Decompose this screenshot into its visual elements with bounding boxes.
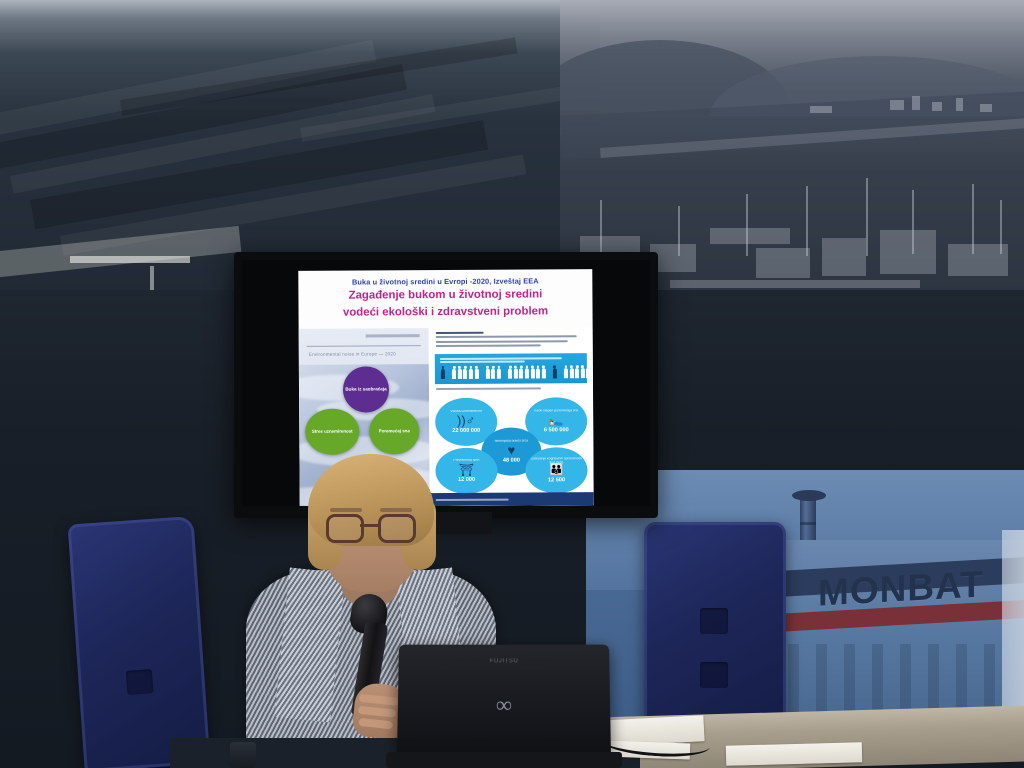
sleep-disturbance-icon: 🛌	[549, 414, 564, 426]
heart-pulse-icon: ♥	[507, 444, 515, 457]
glasses-lens-right	[378, 514, 416, 543]
paper-sheet-center[interactable]	[726, 742, 862, 766]
person-icon	[575, 368, 579, 378]
impact-circle-children-cognition: Oštećenje kognitivnih sposobnosti kod de…	[525, 447, 587, 493]
person-icon	[525, 368, 529, 378]
smokestack-cap-icon	[792, 490, 826, 501]
person-icon	[441, 369, 445, 379]
person-icon	[458, 369, 462, 379]
eyebrow-right	[380, 508, 412, 512]
cover-bubble-traffic-noise: Buka iz saobraćaja	[343, 366, 389, 412]
children-brain-icon: 👪	[550, 466, 564, 477]
person-icon	[463, 369, 467, 379]
impact-value: 22 000 000	[452, 428, 480, 434]
infographic-subcaption	[436, 387, 541, 390]
noise-annoyance-icon: ))♂	[457, 414, 476, 427]
impact-value: 48 000	[503, 458, 520, 464]
person-icon	[486, 369, 490, 379]
person-icon	[491, 369, 495, 379]
person-icon	[469, 369, 473, 379]
cover-bubble-sleep: Poremećaj sna	[369, 408, 419, 454]
person-icon	[514, 369, 518, 379]
glasses-bridge	[360, 524, 378, 527]
person-icon	[553, 368, 557, 378]
laptop[interactable]: FUJITSU ∞	[397, 645, 611, 757]
photo-scene: MONBAT Buka u životnoj sredini u Evropi …	[0, 0, 1024, 768]
impact-value: 12 500	[548, 478, 565, 484]
person-icon	[474, 369, 478, 379]
person-icon	[519, 369, 523, 379]
slide-kicker: Buka u životnoj sredini u Evropi -2020, …	[298, 276, 592, 287]
person-icon	[536, 368, 540, 378]
laptop-base	[386, 752, 622, 768]
cover-bubble-label: Poremećaj sna	[379, 429, 410, 434]
blue-chair-right[interactable]	[644, 522, 786, 742]
glasses-lens-left	[326, 514, 364, 543]
cover-bubble-label: Buka iz saobraćaja	[345, 387, 386, 392]
person-icon	[564, 368, 568, 378]
person-icon	[530, 368, 534, 378]
slide-title-line2: vodeći ekološki i zdravstveni problem	[299, 305, 593, 321]
cover-header-rule	[366, 334, 420, 337]
impact-value: 6 500 000	[544, 427, 569, 433]
person-icon	[452, 369, 456, 379]
cover-caption: Environmental noise in Europe — 2020	[309, 351, 396, 357]
person-icon	[586, 368, 590, 378]
person-icon	[581, 368, 585, 378]
person-icon	[542, 368, 546, 378]
person-icon	[497, 369, 501, 379]
blue-chair-left[interactable]	[68, 516, 211, 768]
cover-bubble-stress: Stres uznemirenost	[305, 409, 359, 455]
fujitsu-logo-icon: ∞	[496, 692, 512, 718]
people-pictogram-row	[441, 368, 594, 379]
panel-white-edge	[1002, 530, 1024, 730]
person-icon	[508, 369, 512, 379]
person-icon	[570, 368, 574, 378]
exposure-band	[435, 353, 587, 384]
slide-title-line1: Zagađenje bukom u životnoj sredini	[298, 288, 592, 304]
cover-bubble-label: Stres uznemirenost	[312, 429, 353, 434]
desk-object[interactable]	[230, 742, 256, 768]
cover-divider	[307, 345, 421, 347]
infographic-intro-text	[436, 331, 586, 349]
eyebrow-left	[330, 508, 362, 512]
laptop-brand-label: FUJITSU	[490, 658, 519, 664]
